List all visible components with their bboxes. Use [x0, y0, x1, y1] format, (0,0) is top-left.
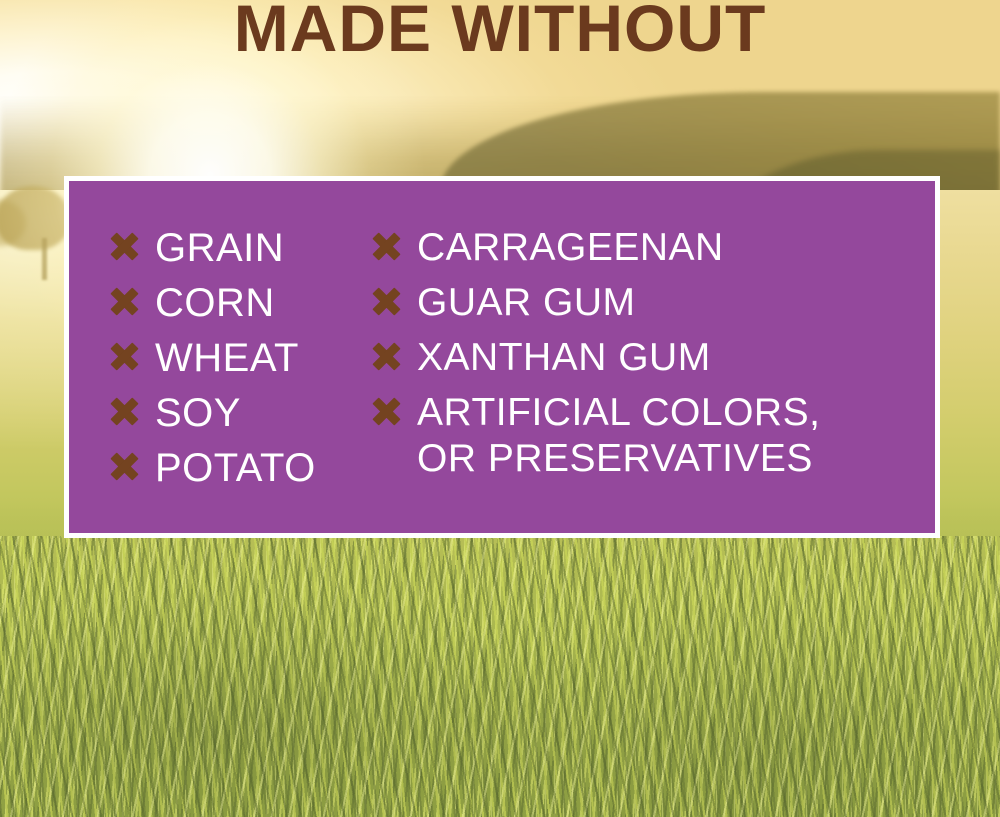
list-item-label: POTATO [155, 445, 316, 491]
list-item: POTATO [109, 445, 357, 491]
list-item: WHEAT [109, 335, 357, 381]
list-item-label: ARTIFICIAL COLORS, OR PRESERVATIVES [417, 390, 820, 482]
list-item: ARTIFICIAL COLORS, OR PRESERVATIVES [371, 390, 935, 482]
page-title: MADE WITHOUT [0, 0, 1000, 64]
x-mark-icon [109, 231, 139, 261]
list-item: XANTHAN GUM [371, 335, 935, 381]
x-mark-icon [109, 451, 139, 481]
list-item-label: WHEAT [155, 335, 299, 381]
x-mark-icon [109, 396, 139, 426]
tall-grass-foreground [0, 536, 1000, 817]
list-item: GRAIN [109, 225, 357, 271]
lone-tree-canopy [0, 186, 70, 250]
product-feature-image: MADE WITHOUT GRAIN CORN WHEAT SOY [0, 0, 1000, 817]
list-item: GUAR GUM [371, 280, 935, 326]
ingredient-column-right: CARRAGEENAN GUAR GUM XANTHAN GUM ARTIFIC… [357, 225, 935, 491]
list-item-label: GRAIN [155, 225, 284, 271]
x-mark-icon [109, 341, 139, 371]
list-item-label: XANTHAN GUM [417, 335, 711, 381]
x-mark-icon [371, 396, 401, 426]
ingredient-column-left: GRAIN CORN WHEAT SOY POTATO [69, 225, 357, 500]
x-mark-icon [371, 341, 401, 371]
list-item-label: SOY [155, 390, 241, 436]
list-item: SOY [109, 390, 357, 436]
list-item: CORN [109, 280, 357, 326]
x-mark-icon [109, 286, 139, 316]
list-item-label: CORN [155, 280, 275, 326]
x-mark-icon [371, 231, 401, 261]
x-mark-icon [371, 286, 401, 316]
list-item-label: GUAR GUM [417, 280, 636, 326]
made-without-panel: GRAIN CORN WHEAT SOY POTATO [64, 176, 940, 538]
list-item-label: CARRAGEENAN [417, 225, 724, 271]
lone-tree-trunk [42, 238, 47, 280]
list-item: CARRAGEENAN [371, 225, 935, 271]
